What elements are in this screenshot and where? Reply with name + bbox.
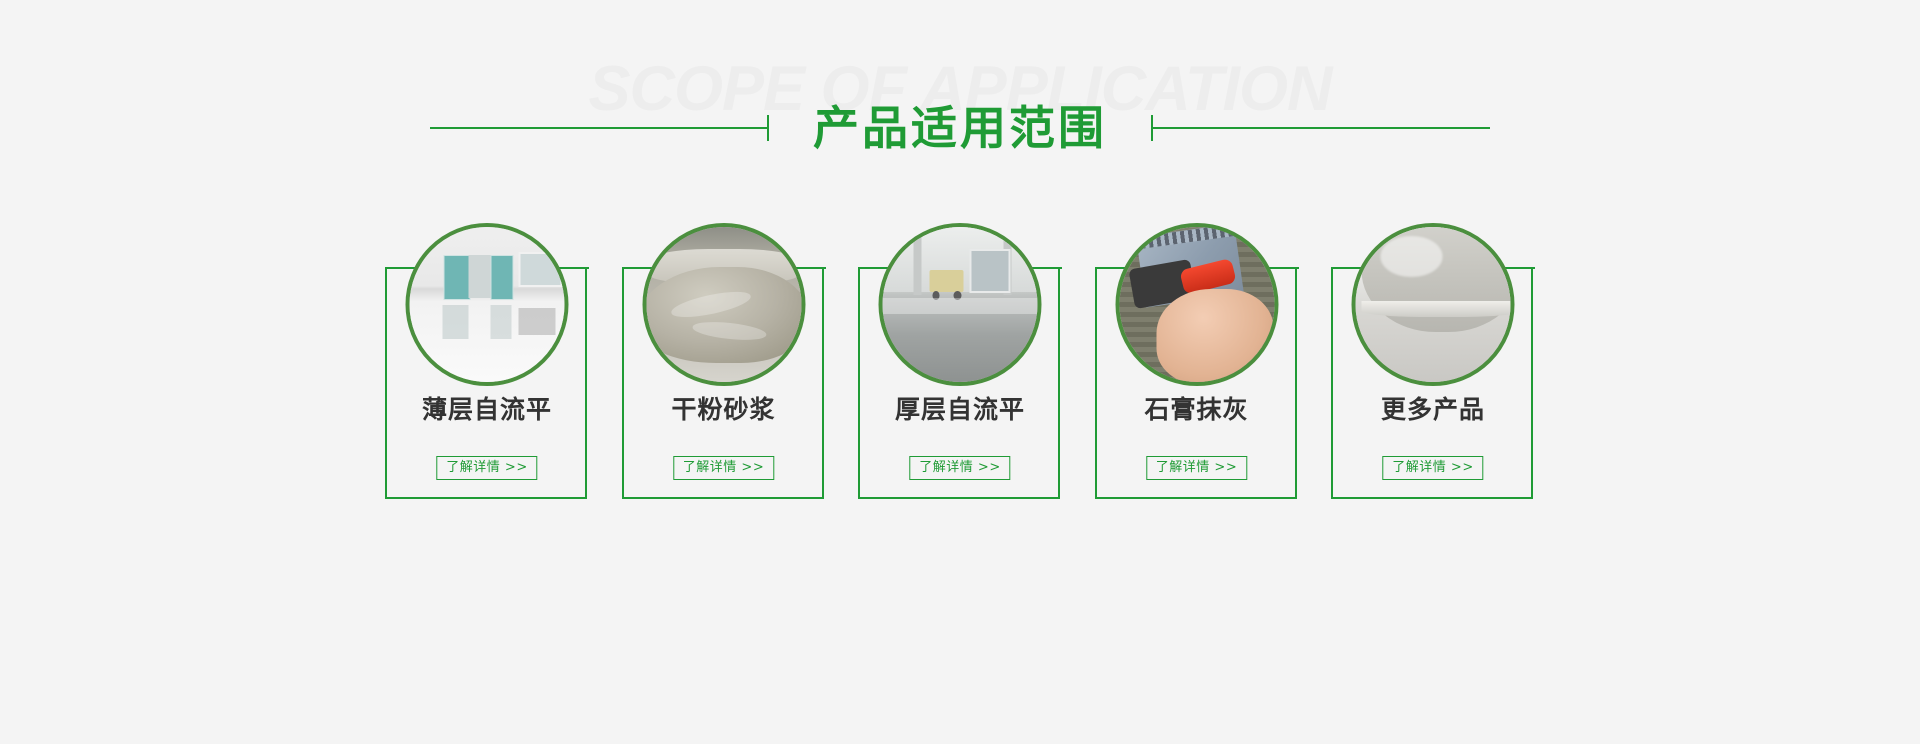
card-image-circle[interactable] <box>1352 223 1515 386</box>
thick-layer-self-leveling-floor-photo <box>883 227 1038 382</box>
card-detail-button[interactable]: 了解详情 >> <box>436 456 537 480</box>
card-detail-button[interactable]: 了解详情 >> <box>1146 456 1247 480</box>
card-title: 干粉砂浆 <box>622 397 826 422</box>
card-title: 厚层自流平 <box>858 397 1062 422</box>
product-card[interactable]: 薄层自流平 了解详情 >> <box>385 223 589 503</box>
section-title: 产品适用范围 <box>769 105 1151 151</box>
card-title: 更多产品 <box>1331 397 1535 422</box>
gypsum-plastering-trowel-photo <box>1119 227 1274 382</box>
card-detail-button[interactable]: 了解详情 >> <box>909 456 1010 480</box>
more-products-photo <box>1356 227 1511 382</box>
product-card[interactable]: 更多产品 了解详情 >> <box>1331 223 1535 503</box>
header-rule-left <box>430 127 769 129</box>
card-title: 石膏抹灰 <box>1095 397 1299 422</box>
card-image-circle[interactable] <box>879 223 1042 386</box>
product-card[interactable]: 厚层自流平 了解详情 >> <box>858 223 1062 503</box>
product-card[interactable]: 石膏抹灰 了解详情 >> <box>1095 223 1299 503</box>
product-card[interactable]: 干粉砂浆 了解详情 >> <box>622 223 826 503</box>
thin-layer-self-leveling-floor-photo <box>410 227 565 382</box>
header-rule-right <box>1151 127 1490 129</box>
card-image-circle[interactable] <box>642 223 805 386</box>
product-card-row: 薄层自流平 了解详情 >> 干粉砂浆 了解详情 >> <box>385 223 1535 503</box>
card-detail-button[interactable]: 了解详情 >> <box>673 456 774 480</box>
scope-of-application-section: SCOPE OF APPLICATION 产品适用范围 薄层自流平 了解详情 >… <box>0 0 1920 744</box>
card-image-circle[interactable] <box>406 223 569 386</box>
card-image-circle[interactable] <box>1115 223 1278 386</box>
section-header: SCOPE OF APPLICATION 产品适用范围 <box>0 58 1920 178</box>
dry-powder-mortar-photo <box>646 227 801 382</box>
card-detail-button[interactable]: 了解详情 >> <box>1382 456 1483 480</box>
card-title: 薄层自流平 <box>385 397 589 422</box>
title-row: 产品适用范围 <box>430 105 1490 151</box>
